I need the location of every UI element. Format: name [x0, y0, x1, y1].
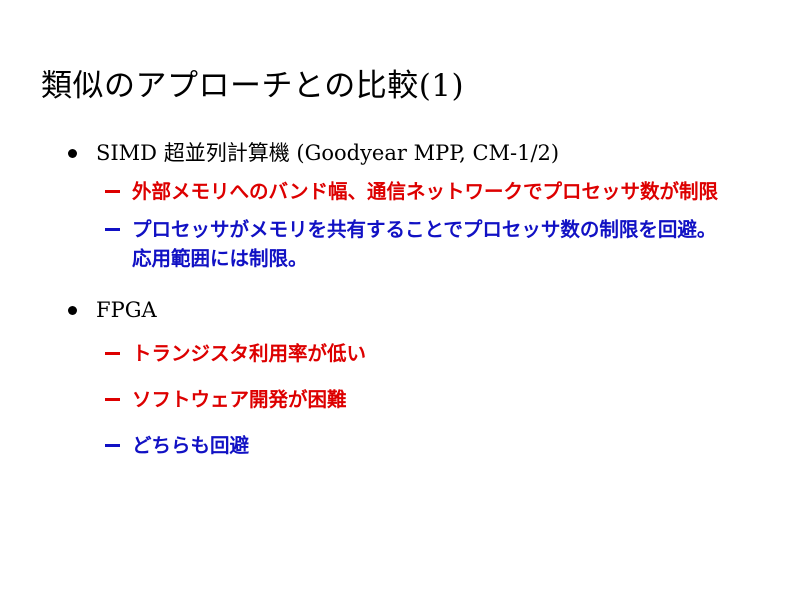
- sub-list-fpga: トランジスタ利用率が低い ソフトウェア開発が困難 どちらも回避: [0, 339, 800, 460]
- sub-bullet-label: どちらも回避: [132, 434, 249, 457]
- page-title: 類似のアプローチとの比較(1): [41, 66, 464, 106]
- dash-marker-icon: [105, 444, 120, 447]
- dash-marker-icon: [105, 228, 120, 231]
- bullet-item-fpga: FPGA: [0, 295, 800, 325]
- bullet-label-simd: SIMD 超並列計算機 (Goodyear MPP, CM-1/2): [96, 138, 559, 168]
- bullet-item-simd: SIMD 超並列計算機 (Goodyear MPP, CM-1/2): [0, 138, 800, 168]
- sub-bullet-item: 外部メモリへのバンド幅、通信ネットワークでプロセッサ数が制限: [0, 177, 800, 206]
- bullet-block-simd: SIMD 超並列計算機 (Goodyear MPP, CM-1/2) 外部メモリ…: [0, 138, 800, 273]
- presentation-slide: 類似のアプローチとの比較(1) SIMD 超並列計算機 (Goodyear MP…: [0, 0, 800, 600]
- dash-marker-icon: [105, 352, 120, 355]
- sub-bullet-label: プロセッサがメモリを共有することでプロセッサ数の制限を回避。応用範囲には制限。: [132, 218, 716, 270]
- sub-bullet-item: トランジスタ利用率が低い: [0, 339, 800, 368]
- dash-marker-icon: [105, 398, 120, 401]
- sub-bullet-label: 外部メモリへのバンド幅、通信ネットワークでプロセッサ数が制限: [132, 180, 718, 203]
- dash-marker-icon: [105, 190, 120, 193]
- slide-body: SIMD 超並列計算機 (Goodyear MPP, CM-1/2) 外部メモリ…: [0, 138, 800, 477]
- sub-bullet-item: ソフトウェア開発が困難: [0, 385, 800, 414]
- sub-bullet-label: ソフトウェア開発が困難: [132, 388, 347, 411]
- sub-bullet-item: どちらも回避: [0, 431, 800, 460]
- sub-list-simd: 外部メモリへのバンド幅、通信ネットワークでプロセッサ数が制限 プロセッサがメモリ…: [0, 177, 800, 273]
- sub-bullet-item: プロセッサがメモリを共有することでプロセッサ数の制限を回避。応用範囲には制限。: [0, 215, 800, 273]
- sub-bullet-label: トランジスタ利用率が低い: [132, 342, 366, 365]
- bullet-block-fpga: FPGA トランジスタ利用率が低い ソフトウェア開発が困難 どちらも回避: [0, 295, 800, 460]
- bullet-label-fpga: FPGA: [96, 295, 157, 325]
- bullet-dot-icon: [68, 306, 77, 315]
- bullet-dot-icon: [68, 149, 77, 158]
